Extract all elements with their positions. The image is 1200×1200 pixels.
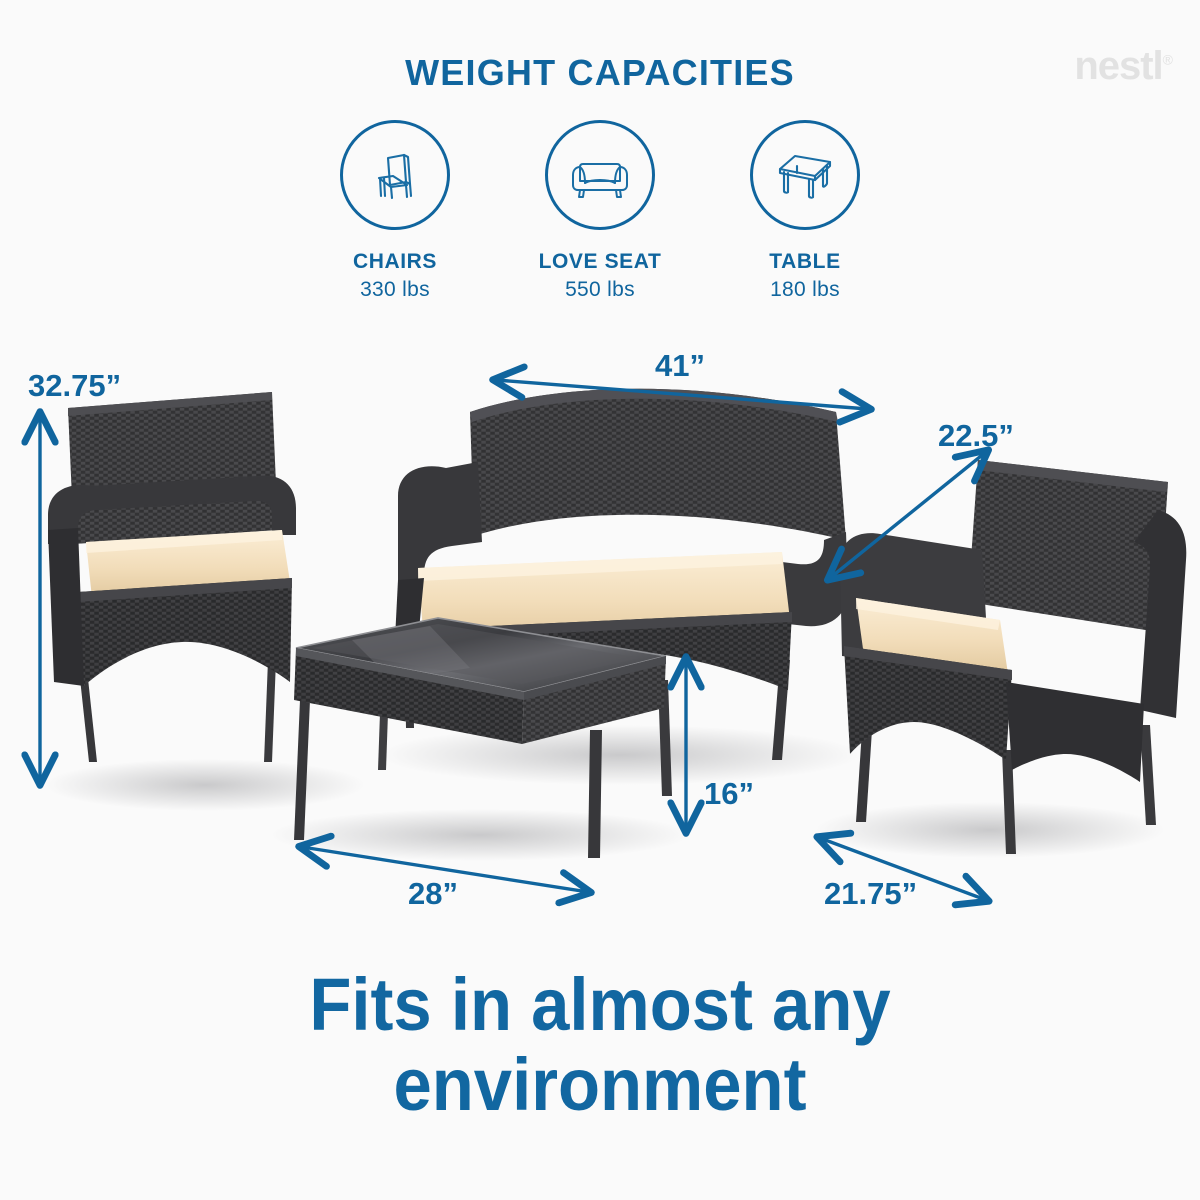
capacity-value: 180 lbs: [720, 278, 890, 302]
capacity-item-table: TABLE 180 lbs: [720, 120, 890, 302]
capacity-label: CHAIRS: [310, 250, 480, 274]
dimension-label-chair-height: 32.75”: [28, 368, 121, 404]
headline: Fits in almost any environment: [42, 965, 1158, 1125]
capacity-label: TABLE: [720, 250, 890, 274]
capacity-item-love-seat: LOVE SEAT 550 lbs: [515, 120, 685, 302]
weight-capacity-list: CHAIRS 330 lbs LOVE SEAT 5: [310, 120, 890, 302]
table-icon-ring: [750, 120, 860, 230]
dimension-label-loveseat-width: 41”: [655, 348, 705, 384]
table-icon: [773, 146, 837, 204]
capacity-value: 550 lbs: [515, 278, 685, 302]
dimension-label-table-height: 16”: [704, 776, 754, 812]
infographic-canvas: nestl® WEIGHT CAPACITIES: [0, 0, 1200, 1200]
product-photo: [0, 330, 1200, 960]
patio-set-illustration: [0, 330, 1200, 960]
chair-left: [48, 392, 296, 762]
loveseat-icon: [567, 147, 633, 203]
headline-line-2: environment: [42, 1045, 1158, 1125]
page-title: WEIGHT CAPACITIES: [0, 52, 1200, 94]
dimension-label-table-width: 28”: [408, 876, 458, 912]
chair-icon-ring: [340, 120, 450, 230]
dimension-label-chair-width: 21.75”: [824, 876, 917, 912]
capacity-value: 330 lbs: [310, 278, 480, 302]
chair-right: [840, 460, 1186, 854]
chair-icon: [364, 144, 426, 206]
dimension-label-chair-depth: 22.5”: [938, 418, 1014, 454]
headline-line-1: Fits in almost any: [309, 963, 890, 1046]
loveseat-icon-ring: [545, 120, 655, 230]
capacity-label: LOVE SEAT: [515, 250, 685, 274]
capacity-item-chairs: CHAIRS 330 lbs: [310, 120, 480, 302]
